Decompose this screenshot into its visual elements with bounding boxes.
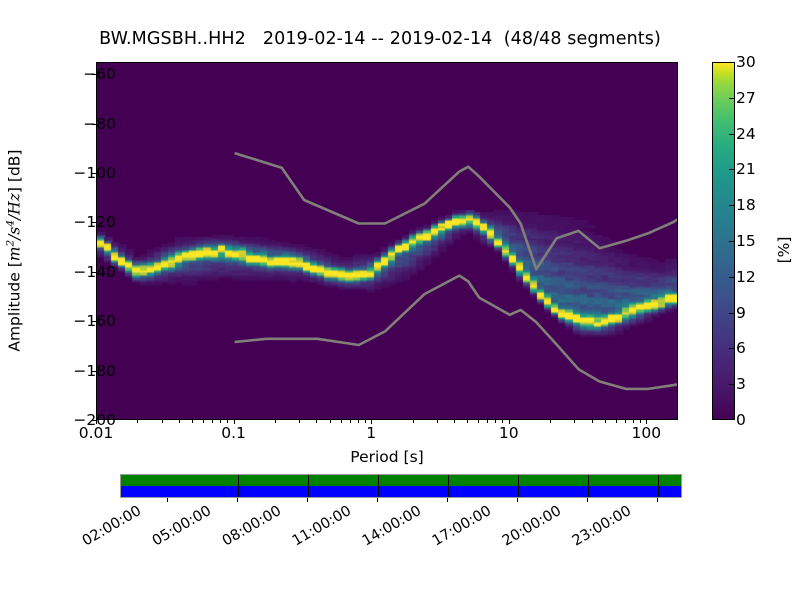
ppsd-plot-area[interactable] bbox=[96, 62, 678, 420]
y-axis-tick-mark bbox=[92, 222, 96, 223]
colorbar-tick-label: 21 bbox=[736, 160, 756, 178]
x-axis-label: Period [s] bbox=[96, 448, 678, 466]
x-axis-minor-tick-mark bbox=[487, 420, 488, 423]
nhnm-curve bbox=[235, 153, 678, 269]
colorbar-tick-mark bbox=[729, 348, 735, 349]
colorbar-tick-mark bbox=[729, 205, 735, 206]
x-axis-minor-tick-mark bbox=[330, 420, 331, 423]
colorbar-tick-mark bbox=[729, 241, 735, 242]
x-axis-tick-mark bbox=[646, 420, 647, 424]
time-axis-tick-mark bbox=[587, 498, 588, 502]
colorbar-tick-mark bbox=[729, 134, 735, 135]
coverage-separator bbox=[658, 475, 659, 497]
y-axis-tick-mark bbox=[92, 124, 96, 125]
time-axis-tick-label: 08:00:00 bbox=[219, 503, 283, 549]
x-axis-tick-mark bbox=[96, 420, 97, 424]
time-axis-tick-mark bbox=[167, 498, 168, 502]
x-axis-minor-tick-mark bbox=[616, 420, 617, 423]
y-axis-tick-mark bbox=[92, 321, 96, 322]
colorbar-tick-mark bbox=[729, 313, 735, 314]
colorbar-tick-label: 6 bbox=[736, 339, 746, 357]
coverage-separator bbox=[308, 475, 309, 497]
coverage-separator bbox=[588, 475, 589, 497]
time-coverage-bar[interactable] bbox=[120, 474, 682, 498]
x-axis-tick-label: 100 bbox=[601, 424, 691, 442]
x-axis-tick-mark bbox=[234, 420, 235, 424]
colorbar-tick-label: 24 bbox=[736, 125, 756, 143]
time-axis-tick-mark bbox=[517, 498, 518, 502]
x-axis-minor-tick-mark bbox=[592, 420, 593, 423]
time-axis-tick-label: 02:00:00 bbox=[79, 503, 143, 549]
coverage-segment-blue bbox=[121, 486, 681, 497]
x-axis-tick-label: 10 bbox=[464, 424, 554, 442]
colorbar-tick-label: 27 bbox=[736, 89, 756, 107]
x-axis-minor-tick-mark bbox=[341, 420, 342, 423]
coverage-separator bbox=[378, 475, 379, 497]
x-axis-minor-tick-mark bbox=[633, 420, 634, 423]
coverage-segment-green bbox=[121, 475, 681, 486]
y-axis-tick-mark bbox=[92, 173, 96, 174]
x-axis-minor-tick-mark bbox=[454, 420, 455, 423]
x-axis-minor-tick-mark bbox=[227, 420, 228, 423]
colorbar-tick-mark bbox=[729, 384, 735, 385]
colorbar-tick-mark bbox=[729, 277, 735, 278]
coverage-separator bbox=[238, 475, 239, 497]
coverage-separator bbox=[518, 475, 519, 497]
x-axis-minor-tick-mark bbox=[502, 420, 503, 423]
x-axis-tick-mark bbox=[509, 420, 510, 424]
page-title: BW.MGSBH..HH2 2019-02-14 -- 2019-02-14 (… bbox=[0, 29, 760, 49]
colorbar-tick-label: 15 bbox=[736, 232, 756, 250]
x-axis-minor-tick-mark bbox=[640, 420, 641, 423]
colorbar-tick-label: 3 bbox=[736, 375, 746, 393]
time-axis-tick-label: 17:00:00 bbox=[429, 503, 493, 549]
x-axis-minor-tick-mark bbox=[299, 420, 300, 423]
y-axis-tick-mark bbox=[92, 371, 96, 372]
x-axis-minor-tick-mark bbox=[179, 420, 180, 423]
time-axis-tick-label: 23:00:00 bbox=[569, 503, 633, 549]
colorbar-tick-label: 12 bbox=[736, 268, 756, 286]
x-axis-minor-tick-mark bbox=[365, 420, 366, 423]
x-axis-minor-tick-mark bbox=[467, 420, 468, 423]
noise-model-curves bbox=[97, 63, 678, 420]
x-axis-minor-tick-mark bbox=[437, 420, 438, 423]
x-axis-minor-tick-mark bbox=[625, 420, 626, 423]
colorbar-tick-mark bbox=[729, 98, 735, 99]
y-axis-label: Amplitude [m2/s4/Hz] [dB] bbox=[4, 71, 23, 431]
x-axis-tick-label: 1 bbox=[326, 424, 416, 442]
x-axis-minor-tick-mark bbox=[162, 420, 163, 423]
coverage-separator bbox=[448, 475, 449, 497]
x-axis-minor-tick-mark bbox=[550, 420, 551, 423]
x-axis-minor-tick-mark bbox=[605, 420, 606, 423]
x-axis-minor-tick-mark bbox=[316, 420, 317, 423]
time-axis-tick-mark bbox=[307, 498, 308, 502]
x-axis-minor-tick-mark bbox=[137, 420, 138, 423]
x-axis-tick-label: 0.1 bbox=[189, 424, 279, 442]
colorbar-tick-label: 9 bbox=[736, 304, 746, 322]
x-axis-minor-tick-mark bbox=[574, 420, 575, 423]
colorbar-tick-label: 0 bbox=[736, 411, 746, 429]
colorbar-tick-label: 30 bbox=[736, 53, 756, 71]
time-axis-tick-mark bbox=[377, 498, 378, 502]
x-axis-minor-tick-mark bbox=[495, 420, 496, 423]
time-axis-tick-label: 14:00:00 bbox=[359, 503, 423, 549]
x-axis-minor-tick-mark bbox=[478, 420, 479, 423]
colorbar-tick-mark bbox=[729, 169, 735, 170]
x-axis-minor-tick-mark bbox=[192, 420, 193, 423]
time-axis-tick-mark bbox=[237, 498, 238, 502]
time-axis-tick-label: 11:00:00 bbox=[289, 503, 353, 549]
x-axis-minor-tick-mark bbox=[212, 420, 213, 423]
x-axis-tick-mark bbox=[371, 420, 372, 424]
y-axis-tick-mark bbox=[92, 272, 96, 273]
x-axis-minor-tick-mark bbox=[275, 420, 276, 423]
ppsd-figure: BW.MGSBH..HH2 2019-02-14 -- 2019-02-14 (… bbox=[0, 0, 800, 600]
x-axis-minor-tick-mark bbox=[350, 420, 351, 423]
x-axis-minor-tick-mark bbox=[220, 420, 221, 423]
colorbar-tick-label: 18 bbox=[736, 196, 756, 214]
time-axis-tick-label: 20:00:00 bbox=[499, 503, 563, 549]
time-axis-tick-mark bbox=[657, 498, 658, 502]
x-axis-tick-label: 0.01 bbox=[51, 424, 141, 442]
nlnm-curve bbox=[235, 276, 678, 389]
x-axis-minor-tick-mark bbox=[413, 420, 414, 423]
x-axis-minor-tick-mark bbox=[358, 420, 359, 423]
colorbar-label: [%] bbox=[775, 190, 793, 310]
x-axis-minor-tick-mark bbox=[203, 420, 204, 423]
time-axis-tick-mark bbox=[447, 498, 448, 502]
time-axis-tick-label: 05:00:00 bbox=[149, 503, 213, 549]
y-axis-tick-mark bbox=[92, 74, 96, 75]
